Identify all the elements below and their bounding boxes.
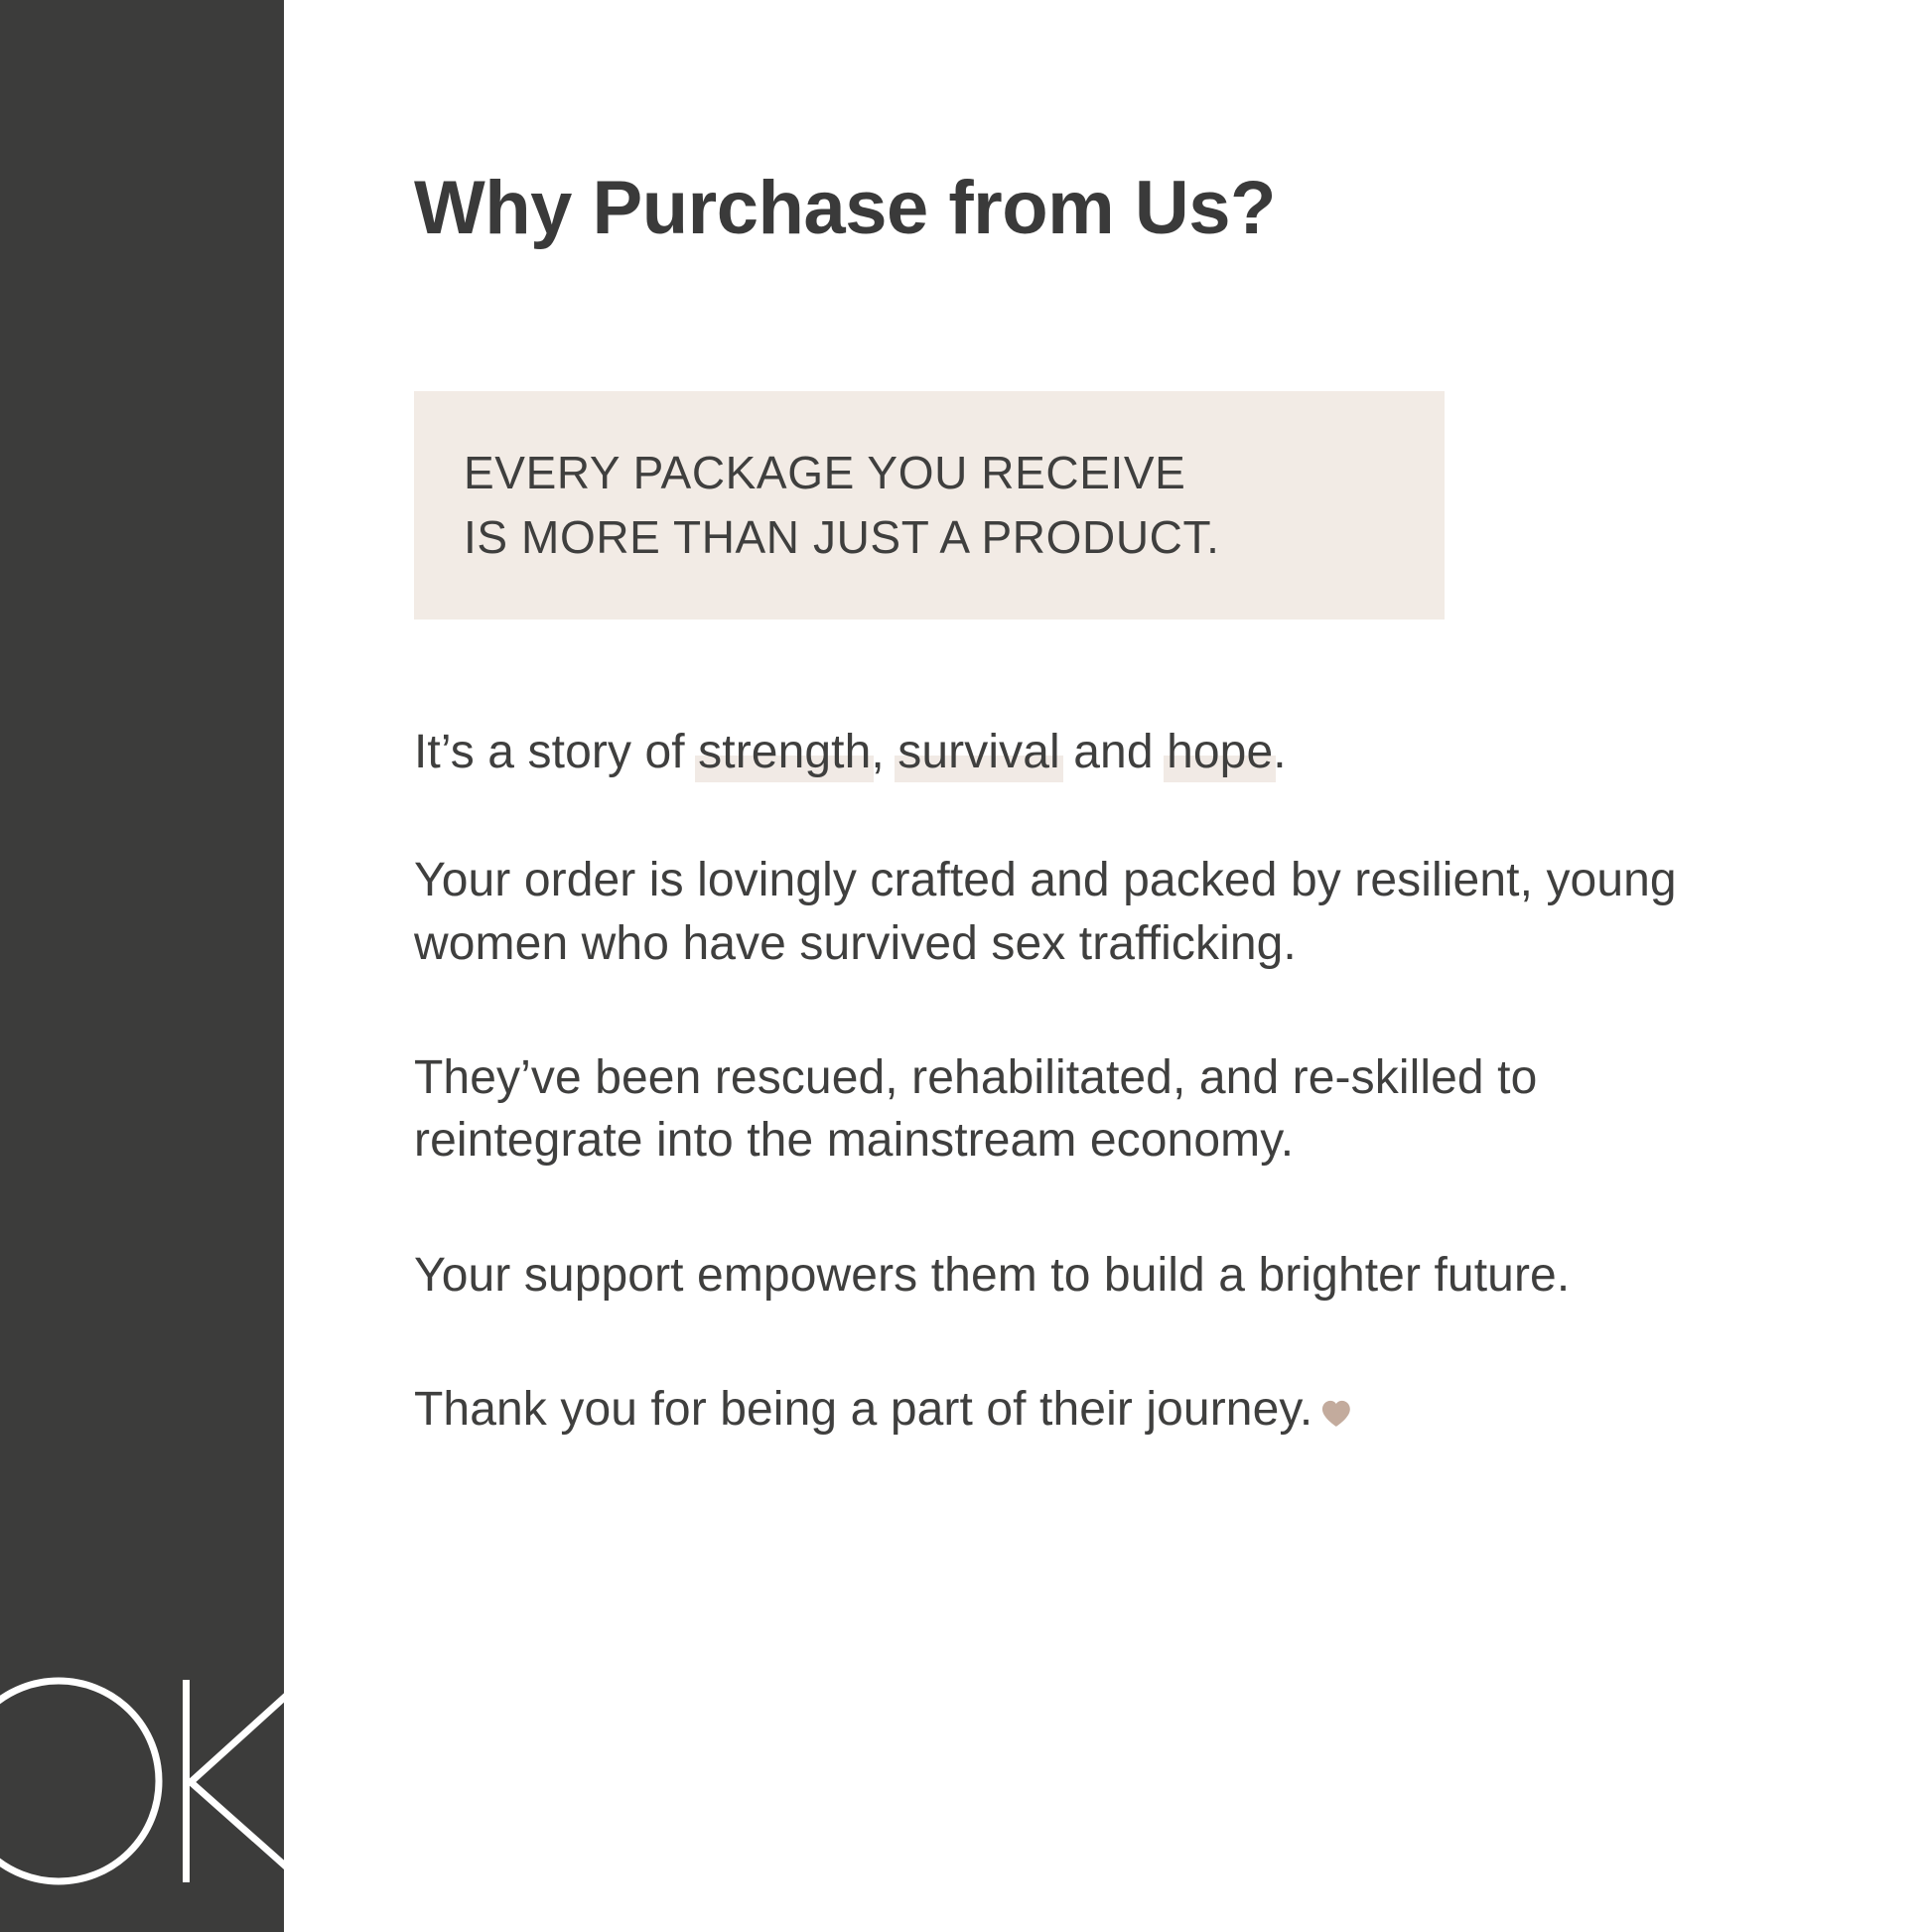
page-title: Why Purchase from Us? <box>414 165 1276 251</box>
paragraph-story: It’s a story of strength, survival and h… <box>414 721 1734 783</box>
slide-canvas: Why Purchase from Us? EVERY PACKAGE YOU … <box>0 0 1932 1932</box>
brand-logo <box>0 1662 284 1900</box>
heart-icon <box>1321 1399 1351 1429</box>
story-sep-2: and <box>1060 726 1167 778</box>
paragraph-thankyou: Thank you for being a part of their jour… <box>414 1378 1734 1441</box>
paragraph-rescued: They’ve been rescued, rehabilitated, and… <box>414 1046 1734 1173</box>
story-pre-text: It’s a story of <box>414 726 698 778</box>
body-copy: It’s a story of strength, survival and h… <box>414 721 1734 1442</box>
highlight-survival: survival <box>897 721 1060 783</box>
highlight-strength: strength <box>698 721 871 783</box>
thankyou-text: Thank you for being a part of their jour… <box>414 1383 1312 1436</box>
highlight-hope: hope <box>1167 721 1273 783</box>
main-content: Why Purchase from Us? EVERY PACKAGE YOU … <box>284 0 1932 1932</box>
paragraph-support: Your support empowers them to build a br… <box>414 1244 1734 1307</box>
paragraph-crafted: Your order is lovingly crafted and packe… <box>414 849 1734 975</box>
callout-banner: EVERY PACKAGE YOU RECEIVE IS MORE THAN J… <box>414 391 1445 620</box>
brand-sidebar <box>0 0 284 1932</box>
story-sep-1: , <box>871 726 897 778</box>
callout-line-2: IS MORE THAN JUST A PRODUCT. <box>464 505 1445 570</box>
callout-line-1: EVERY PACKAGE YOU RECEIVE <box>464 441 1445 505</box>
